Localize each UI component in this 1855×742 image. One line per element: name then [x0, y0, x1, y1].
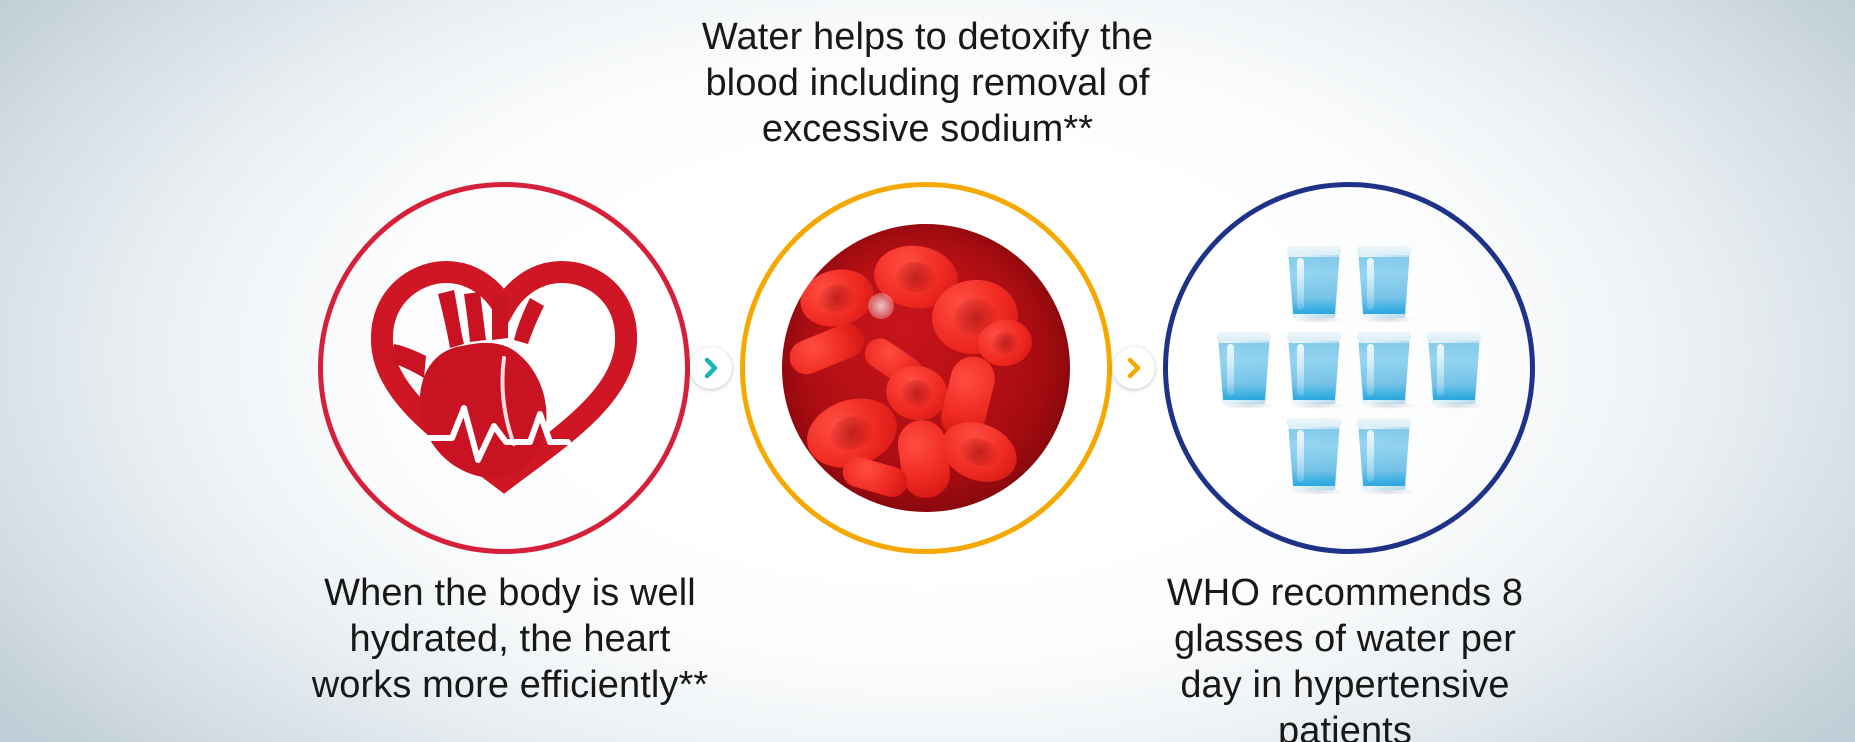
- water-glass: [1358, 418, 1410, 490]
- water-glass: [1288, 332, 1340, 404]
- water-glass: [1358, 332, 1410, 404]
- page-title: Water helps to detoxify the blood includ…: [578, 14, 1278, 152]
- infographic-stage: Water helps to detoxify the blood includ…: [0, 0, 1855, 742]
- glass-row-middle: [1218, 332, 1480, 404]
- glass-row-bottom: [1288, 418, 1410, 490]
- connector-1: [690, 347, 732, 389]
- heart-with-ecg-icon: [354, 238, 654, 498]
- circle-row: [0, 182, 1855, 554]
- chevron-right-icon: [700, 357, 722, 379]
- blood-icon-container: [740, 182, 1112, 554]
- water-glass: [1358, 246, 1410, 318]
- water-glass: [1218, 332, 1270, 404]
- chevron-right-icon: [1123, 357, 1145, 379]
- node-blood[interactable]: [740, 182, 1112, 554]
- eight-water-glasses-icon: [1205, 246, 1493, 490]
- caption-glasses: WHO recommends 8 glasses of water per da…: [1120, 570, 1570, 742]
- red-blood-cells-icon: [782, 224, 1070, 512]
- water-glass: [1288, 246, 1340, 318]
- blood-highlight: [868, 293, 894, 319]
- glass-row-top: [1288, 246, 1410, 318]
- glasses-icon-container: [1163, 182, 1535, 554]
- heart-icon-container: [318, 182, 690, 554]
- node-glasses[interactable]: [1163, 182, 1535, 554]
- connector-2: [1113, 347, 1155, 389]
- water-glass: [1288, 418, 1340, 490]
- caption-heart: When the body is well hydrated, the hear…: [260, 570, 760, 708]
- water-glass: [1428, 332, 1480, 404]
- node-heart[interactable]: [318, 182, 690, 554]
